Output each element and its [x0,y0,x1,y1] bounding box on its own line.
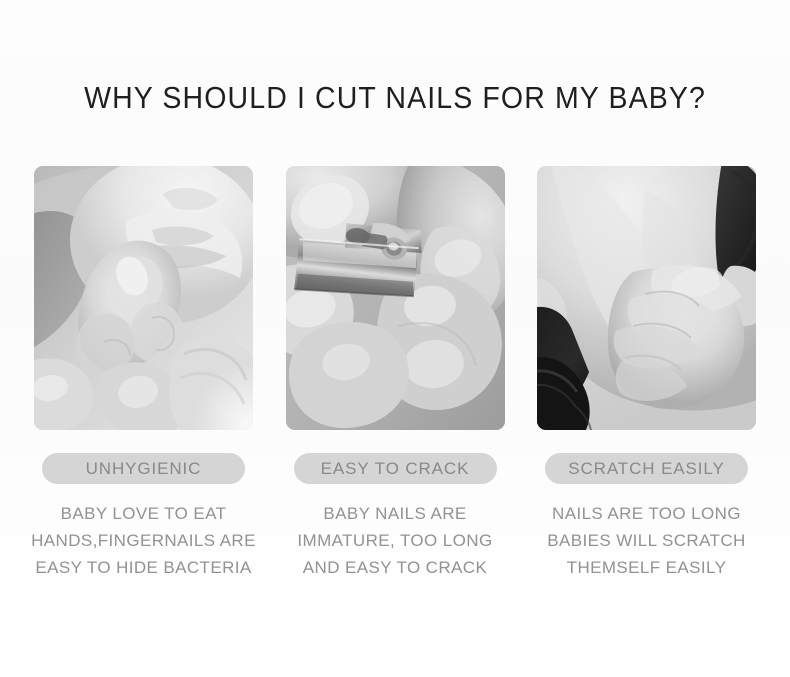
badge-easy-to-crack: EASY TO CRACK [294,453,497,484]
page-title: WHY SHOULD I CUT NAILS FOR MY BABY? [32,78,759,118]
description-scratch-easily: NAILS ARE TOO LONG BABIES WILL SCRATCH T… [534,500,760,581]
badge-unhygienic: UNHYGIENIC [42,453,245,484]
description-easy-to-crack: BABY NAILS ARE IMMATURE, TOO LONG AND EA… [282,500,508,581]
hand-scratching-neck-photo [537,166,756,430]
reason-column-easy-to-crack: EASY TO CRACK BABY NAILS ARE IMMATURE, T… [286,166,505,581]
nail-clipper-on-baby-finger-photo [286,166,505,430]
description-unhygienic: BABY LOVE TO EAT HANDS,FINGERNAILS ARE E… [31,500,257,581]
promo-banner: WHY SHOULD I CUT NAILS FOR MY BABY? [0,0,790,677]
baby-sucking-fingers-photo [34,166,253,430]
badge-scratch-easily: SCRATCH EASILY [545,453,748,484]
reason-column-scratch-easily: SCRATCH EASILY NAILS ARE TOO LONG BABIES… [537,166,756,581]
reason-columns: UNHYGIENIC BABY LOVE TO EAT HANDS,FINGER… [34,166,756,581]
reason-column-unhygienic: UNHYGIENIC BABY LOVE TO EAT HANDS,FINGER… [34,166,253,581]
